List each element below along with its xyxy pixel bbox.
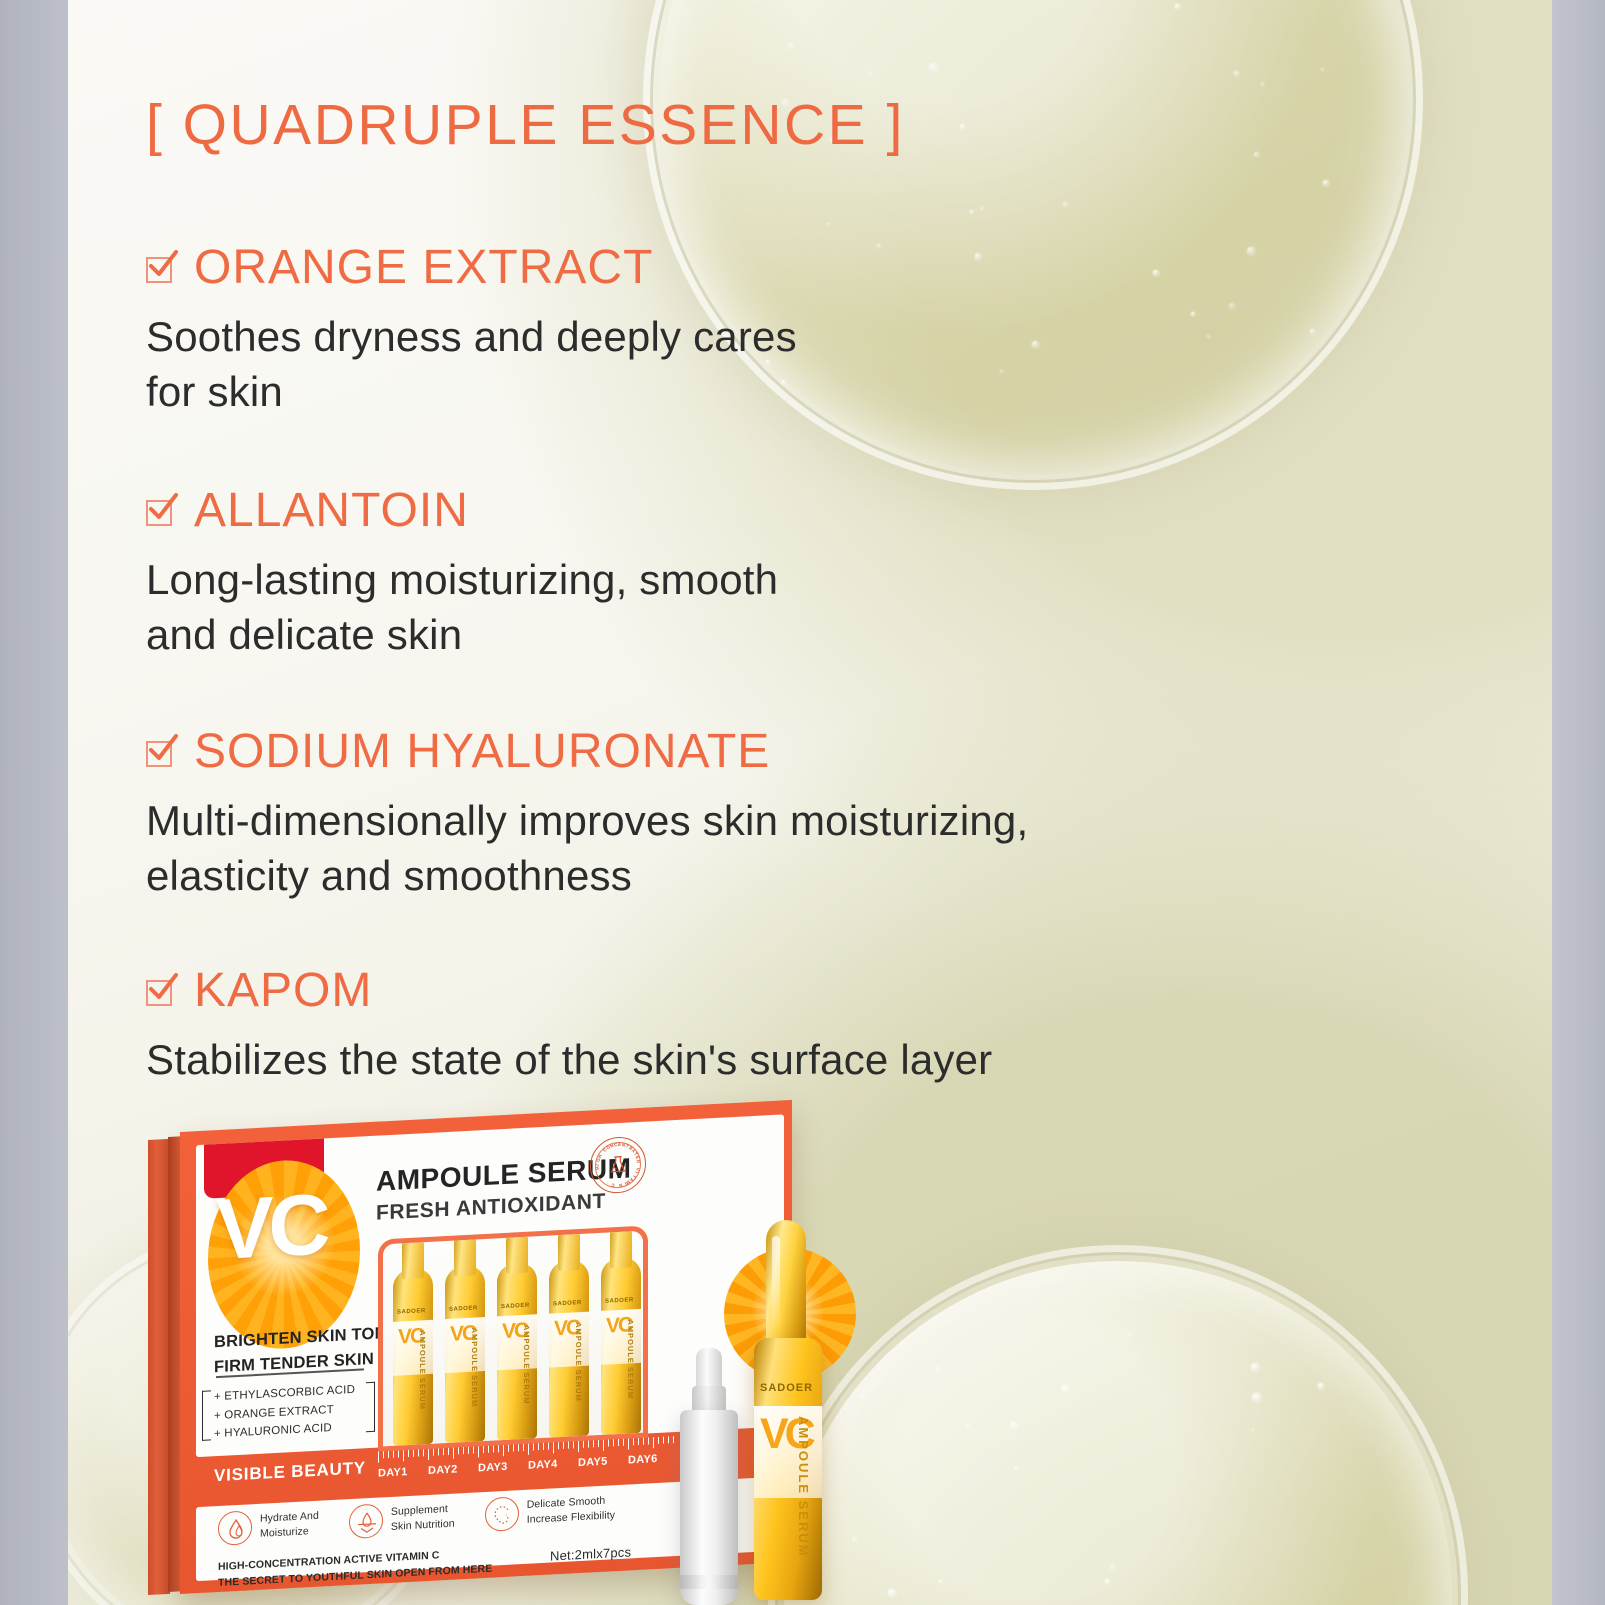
benefit-line-2: Increase Flexibility	[527, 1509, 615, 1526]
ampoule-brand: SADOER	[397, 1308, 426, 1316]
ampoule-in-box: SADOERVCAMPOULE SERUM	[601, 1257, 641, 1435]
ampoule-bottle: SADOER VC AMPOULE SERUM	[752, 1220, 824, 1600]
feature-block-sodium-hyaluronate: SODIUM HYALURONATE Multi-dimensionally i…	[146, 724, 1028, 904]
vc-brand-mark: VC	[216, 1186, 325, 1269]
feature-description: Multi-dimensionally improves skin moistu…	[146, 793, 1028, 904]
feature-description: Soothes dryness and deeply cares for ski…	[146, 309, 797, 420]
benefit-item: Supplement Skin Nutrition	[349, 1500, 455, 1540]
photo-backdrop: [ QUADRUPLE ESSENCE ] ORANGE EXTRACT Soo…	[68, 0, 1552, 1605]
feature-heading-row: KAPOM	[146, 963, 992, 1018]
feature-description: Long-lasting moisturizing, smooth and de…	[146, 552, 778, 663]
feature-heading-row: SODIUM HYALURONATE	[146, 724, 1028, 779]
ampoule-brand: SADOER	[449, 1305, 478, 1313]
net-content: Net:2mlx7pcs	[550, 1544, 631, 1563]
feature-heading-row: ALLANTOIN	[146, 483, 778, 538]
day-label: DAY2	[428, 1463, 458, 1477]
dropper-bottle	[678, 1348, 740, 1605]
ampoule-brand: SADOER	[501, 1303, 530, 1311]
dropper-body	[680, 1410, 738, 1605]
product-marketing-image: [ QUADRUPLE ESSENCE ] ORANGE EXTRACT Soo…	[0, 0, 1605, 1605]
benefit-line-2: Skin Nutrition	[391, 1518, 455, 1533]
ampoule-in-box: SADOERVCAMPOULE SERUM	[445, 1265, 485, 1443]
benefit-line-1: Supplement	[391, 1503, 448, 1518]
ampoule-brand: SADOER	[760, 1382, 813, 1394]
bracket-left	[202, 1390, 211, 1440]
day-label: DAY5	[578, 1456, 608, 1470]
quality-seal-badge: HIGH CONCENTRATED VITAMIN C	[590, 1136, 646, 1195]
ingredients-list: + ETHYLASCORBIC ACID + ORANGE EXTRACT + …	[214, 1381, 355, 1444]
benefit-label: Hydrate And Moisturize	[260, 1509, 319, 1542]
box-side-panel	[148, 1139, 170, 1595]
feature-heading: SODIUM HYALURONATE	[194, 724, 770, 779]
letterbox-bar-right	[1552, 0, 1605, 1605]
benefit-item: Hydrate And Moisturize	[218, 1507, 319, 1546]
feature-block-kapom: KAPOM Stabilizes the state of the skin's…	[146, 963, 992, 1087]
letterbox-bar-left	[0, 0, 68, 1605]
benefit-label: Delicate Smooth Increase Flexibility	[527, 1493, 615, 1527]
feature-heading: KAPOM	[194, 963, 372, 1018]
checkbox-checked-icon	[146, 253, 176, 283]
dropper-cap	[696, 1348, 722, 1390]
ampoule-in-box: SADOERVCAMPOULE SERUM	[393, 1268, 433, 1446]
day-label: DAY1	[378, 1466, 408, 1480]
feature-heading: ALLANTOIN	[194, 483, 469, 538]
leaf-drop-icon	[349, 1503, 383, 1539]
product-photo: VC AMPOULE SERUM FRESH ANTIOXIDANT HIGH …	[148, 1120, 868, 1605]
benefit-item: Delicate Smooth Increase Flexibility	[485, 1491, 615, 1532]
day-label: DAY3	[478, 1461, 508, 1475]
ampoule-in-box: SADOERVCAMPOULE SERUM	[549, 1260, 589, 1438]
bracket-right	[366, 1382, 375, 1432]
feature-heading-row: ORANGE EXTRACT	[146, 240, 797, 295]
feature-block-orange-extract: ORANGE EXTRACT Soothes dryness and deepl…	[146, 240, 797, 420]
ampoule-brand: SADOER	[605, 1297, 634, 1305]
seal-ring-text: HIGH CONCENTRATED VITAMIN C	[591, 1137, 645, 1194]
water-drop-icon	[218, 1510, 252, 1546]
feature-heading: ORANGE EXTRACT	[194, 240, 653, 295]
benefit-line-1: Delicate Smooth	[527, 1495, 606, 1511]
ampoule-neck	[766, 1220, 806, 1352]
checkbox-checked-icon	[146, 737, 176, 767]
checkbox-checked-icon	[146, 496, 176, 526]
benefit-line-2: Moisturize	[260, 1525, 309, 1540]
ampoule-label-text: AMPOULE SERUM	[522, 1325, 531, 1405]
day-label: DAY6	[628, 1453, 658, 1467]
spiral-dots-icon	[485, 1496, 519, 1532]
page-title: [ QUADRUPLE ESSENCE ]	[146, 92, 905, 158]
checkbox-checked-icon	[146, 976, 176, 1006]
day-label: DAY4	[528, 1458, 558, 1472]
ampoule-label-text: AMPOULE SERUM	[796, 1416, 811, 1558]
ampoule-brand: SADOER	[553, 1300, 582, 1308]
feature-description: Stabilizes the state of the skin's surfa…	[146, 1032, 992, 1087]
ampoule-window: SADOERVCAMPOULE SERUMSADOERVCAMPOULE SER…	[378, 1225, 648, 1451]
benefit-label: Supplement Skin Nutrition	[391, 1502, 455, 1535]
visible-beauty-label: VISIBLE BEAUTY	[214, 1458, 366, 1486]
ampoule-label-text: AMPOULE SERUM	[574, 1322, 583, 1402]
feature-block-allantoin: ALLANTOIN Long-lasting moisturizing, smo…	[146, 483, 778, 663]
ampoule-label-text: AMPOULE SERUM	[470, 1327, 479, 1407]
benefit-line-1: Hydrate And	[260, 1510, 319, 1525]
copy-layer: [ QUADRUPLE ESSENCE ] ORANGE EXTRACT Soo…	[68, 0, 1552, 1605]
ampoule-label-text: AMPOULE SERUM	[418, 1330, 427, 1410]
ampoule-in-box: SADOERVCAMPOULE SERUM	[497, 1262, 537, 1440]
ampoule-label-text: AMPOULE SERUM	[626, 1319, 635, 1399]
